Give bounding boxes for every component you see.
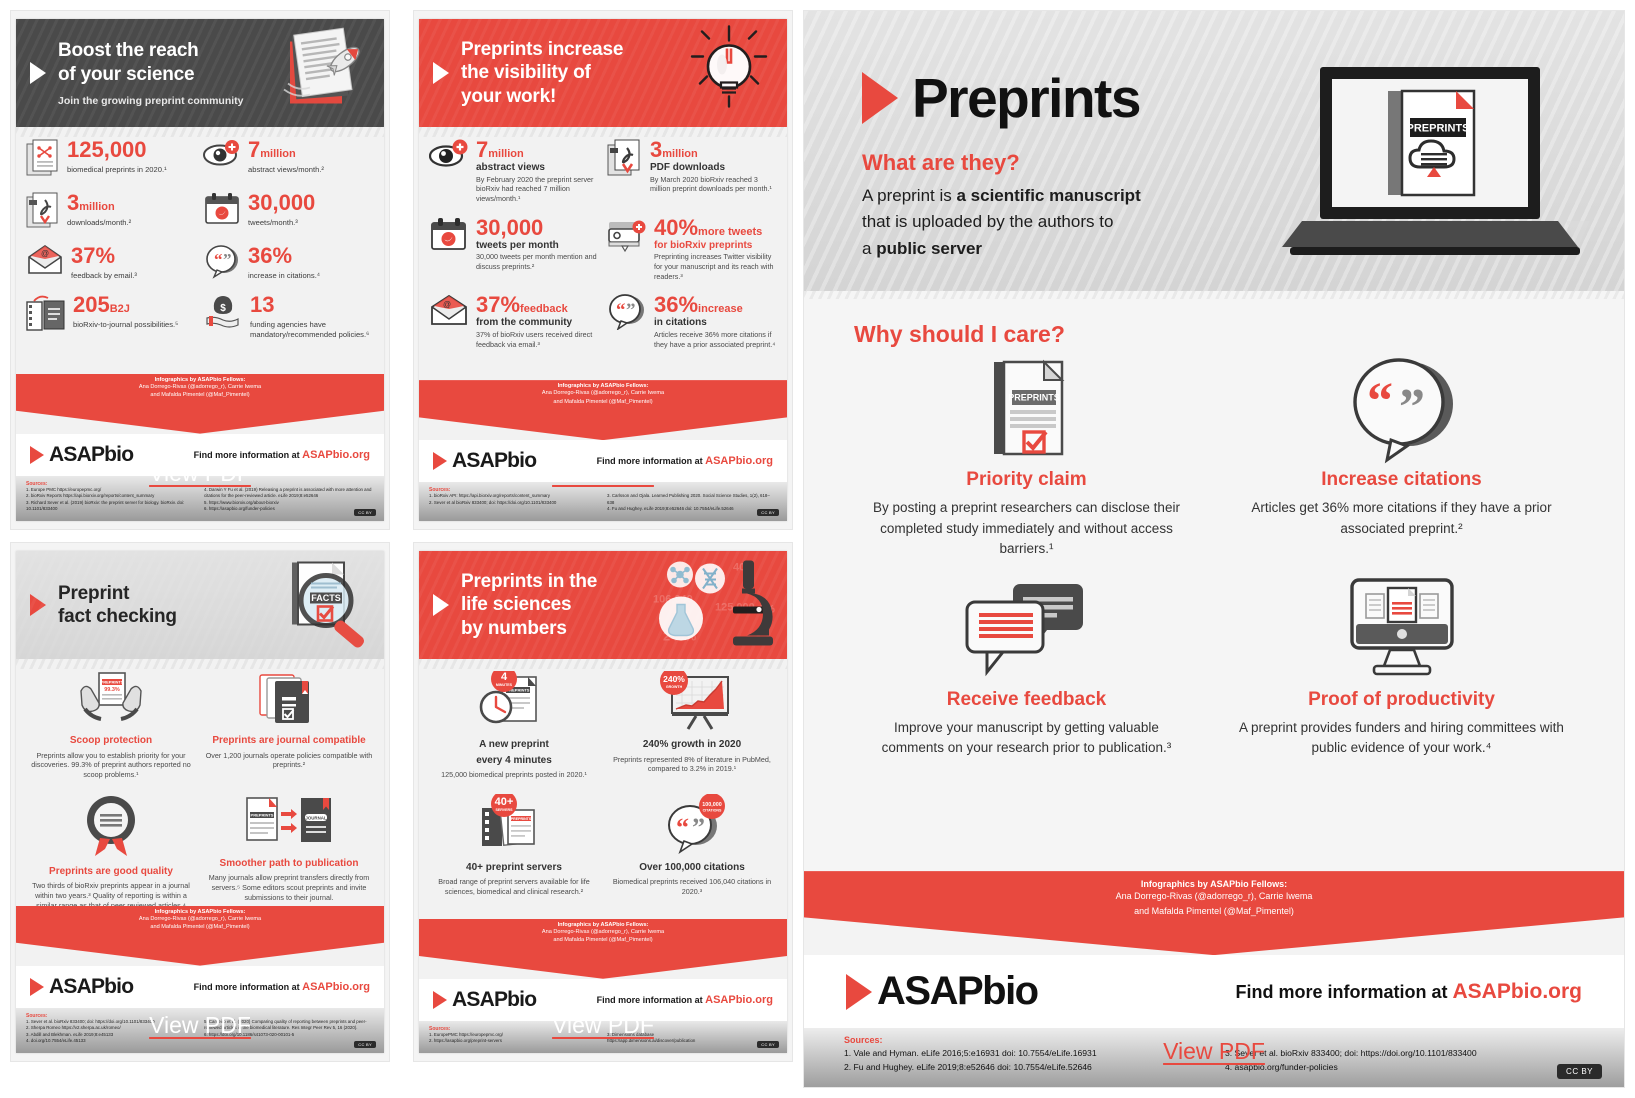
- number-title: 40+ preprint servers: [466, 862, 562, 875]
- source-item: 2. bioRxiv Reports https://api.biorxiv.o…: [26, 493, 196, 500]
- fact-item: Preprints are journal compatible Over 1,…: [204, 671, 374, 780]
- badge-value: 240%: [663, 674, 685, 684]
- source-item: 4. Fu and Hughey. eLife 2019;8:e52646 do…: [607, 506, 777, 513]
- svg-text:@: @: [41, 249, 49, 258]
- card-title-line: Preprints increase: [461, 38, 623, 61]
- credit-line: and Mafalda Pimentel (@Maf_Pimentel): [150, 923, 249, 931]
- stat-item: @ 37%feedback from the community 37% of …: [429, 294, 599, 349]
- credit-line: Ana Dorrego-Rivas (@adorrego_r), Carrie …: [1116, 889, 1313, 903]
- card-title-line: life sciences: [461, 593, 597, 616]
- benefit-title: Priority claim: [966, 469, 1086, 491]
- find-more-text: Find more information at ASAPbio.org: [1235, 980, 1582, 1004]
- source-item: 3. Carlsson and Ojala. Learned Publishin…: [607, 493, 777, 506]
- stat-desc: By February 2020 the preprint server bio…: [476, 175, 599, 204]
- card-title-line: Boost the reach: [58, 39, 244, 62]
- card-wave-credit: Infographics by ASAPbio Fellows: Ana Dor…: [16, 374, 384, 434]
- journals-stack-icon: [254, 671, 324, 732]
- benefit-item-increase-citations: “ ” Increase citations Articles get 36% …: [1229, 354, 1574, 568]
- svg-text:“: “: [616, 300, 626, 321]
- asapbio-logo: ASAPbio: [846, 969, 1038, 1014]
- card-sheet: Preprint fact checking FACTS: [16, 551, 384, 1053]
- stat-item: $ 13 funding agencies have mandatory/rec…: [203, 294, 374, 340]
- stat-value: 3: [67, 190, 79, 215]
- stat-sub: abstract views/month.²: [248, 165, 324, 175]
- fact-title: Smoother path to publication: [220, 858, 359, 871]
- stat-value: 37%: [71, 243, 115, 268]
- monitor-documents-icon: [1340, 576, 1464, 684]
- fact-desc: Many journals allow preprint transfers d…: [204, 873, 374, 902]
- stat-sub: tweets/month.³: [248, 218, 315, 228]
- source-item: https://app.dimensions.ai/discover/publi…: [607, 1038, 777, 1045]
- stat-unit: million: [79, 201, 114, 213]
- asapbio-logo: ASAPbio: [433, 988, 536, 1012]
- view-pdf-link[interactable]: View PDF: [1163, 1038, 1265, 1065]
- stat-unit: B2J: [110, 303, 130, 315]
- stat-unit: million: [662, 148, 697, 160]
- asapbio-logo: ASAPbio: [433, 449, 536, 473]
- stat-desc: Articles receive 36% more citations if t…: [654, 330, 777, 349]
- source-item: 3. Sever et al. bioRxiv 833400; doi: htt…: [1225, 1047, 1584, 1061]
- stat-unit: million: [260, 148, 295, 160]
- stat-sub: increase in citations.⁴: [248, 271, 320, 281]
- credit-line: Ana Dorrego-Rivas (@adorrego_r), Carrie …: [139, 383, 261, 391]
- benefit-title: Receive feedback: [947, 689, 1107, 711]
- stat-desc: Preprinting increases Twitter visibility…: [654, 252, 777, 281]
- chevron-right-icon: [433, 594, 449, 616]
- stat-item: “” 36% increase in citations.⁴: [203, 245, 374, 284]
- source-item: 1. Europe PMC https://europepmc.org/: [26, 487, 196, 494]
- quote-bubble-icon: “ ”: [1343, 356, 1461, 464]
- source-item: 4. Darwin Y Fu et al. (2019) Releasing a…: [204, 487, 374, 500]
- fact-item: PREPRINTS99.3% Scoop protection Preprint…: [26, 671, 196, 780]
- stat-value: 13: [250, 292, 274, 317]
- growth-chart-icon: 240%GROWTH: [650, 671, 734, 736]
- svg-text:PREPRINTS: PREPRINTS: [1008, 393, 1060, 403]
- quote-bubble-icon: “”: [607, 294, 647, 335]
- pdf-download-icon: [607, 139, 643, 184]
- stat-label: in citations: [654, 317, 777, 330]
- stat-value: 205: [73, 292, 110, 317]
- card-subtitle: Join the growing preprint community: [58, 95, 244, 107]
- card-title-line: of your science: [58, 63, 244, 86]
- svg-text:PREPRINTS: PREPRINTS: [511, 817, 532, 821]
- benefit-desc: Improve your manuscript by getting valua…: [864, 718, 1189, 759]
- source-item: 2. https://asapbio.org/preprint-servers: [429, 1038, 599, 1045]
- stat-value: 36%: [654, 292, 698, 317]
- card-sheet: Boost the reach of your science Join the…: [16, 19, 384, 521]
- fact-item: PREPRINTSJOURNAL Smoother path to public…: [204, 794, 374, 906]
- find-more-prefix: Find more information at: [194, 982, 303, 992]
- card-header: Preprint fact checking FACTS: [16, 551, 384, 659]
- benefit-title: Proof of productivity: [1308, 689, 1495, 711]
- svg-text:SERVERS: SERVERS: [495, 808, 513, 812]
- chevron-right-icon: [862, 72, 898, 124]
- benefit-title: Increase citations: [1321, 469, 1482, 491]
- source-item: 4. doi.org/10.7554/eLife.45133: [26, 1038, 196, 1045]
- fact-desc: Preprints allow you to establish priorit…: [26, 751, 196, 780]
- view-pdf-link[interactable]: View PDF: [552, 460, 654, 487]
- clock-preprint-icon: PREPRINTS4MINUTES: [476, 671, 552, 736]
- chevron-right-icon: [433, 991, 447, 1009]
- view-pdf-link[interactable]: View PDF: [552, 1012, 654, 1039]
- thumbnail-grid: Boost the reach of your science Join the…: [10, 10, 793, 1088]
- stat-value: 30,000: [476, 215, 543, 240]
- money-hand-icon: $: [203, 294, 243, 335]
- feature-section-heading: Why should I care?: [854, 321, 1574, 348]
- card-title-line: fact checking: [58, 605, 177, 628]
- credit-line: Ana Dorrego-Rivas (@adorrego_r), Carrie …: [139, 915, 261, 923]
- source-item: 1. Vale and Hyman. eLife 2016;5:e16931 d…: [844, 1047, 1203, 1061]
- eye-plus-icon: [203, 139, 241, 174]
- stat-item: 7million abstract views By February 2020…: [429, 139, 599, 204]
- benefit-desc: Articles get 36% more citations if they …: [1239, 498, 1564, 539]
- card-wave-credit: Infographics by ASAPbio Fellows: Ana Dor…: [419, 919, 787, 979]
- brand-name: ASAPbio: [452, 449, 536, 473]
- find-more-prefix: Find more information at: [194, 450, 303, 460]
- chevron-right-icon: [30, 978, 44, 996]
- find-more-text: Find more information at ASAPbio.org: [194, 449, 370, 461]
- card-sources: Sources: 1. bioRxiv API: https://api.bio…: [419, 482, 787, 521]
- card-body: 125,000 biomedical preprints in 2020.¹ 7…: [16, 127, 384, 374]
- stat-value: 40%: [654, 215, 698, 240]
- infographic-card-preprints-increase-visibility[interactable]: Preprints increase the visibility of you…: [413, 10, 793, 530]
- email-at-icon: @: [26, 245, 64, 280]
- feature-title: Preprints: [912, 66, 1140, 130]
- stat-item: 3million downloads/month.²: [26, 192, 197, 235]
- fact-title: Preprints are journal compatible: [212, 735, 365, 748]
- stat-item: 3million PDF downloads By March 2020 bio…: [607, 139, 777, 204]
- credit-line: and Mafalda Pimentel (@Maf_Pimentel): [1134, 904, 1294, 918]
- stat-sub: bioRxiv-to-journal possibilities.⁵: [73, 320, 178, 330]
- stat-sub: funding agencies have mandatory/recommen…: [250, 320, 374, 340]
- stat-value: 7: [476, 137, 488, 162]
- cc-license-badge: CC BY: [757, 1041, 779, 1048]
- magnifier-facts-icon: FACTS: [278, 557, 374, 654]
- find-more-text: Find more information at ASAPbio.org: [194, 981, 370, 993]
- number-desc: Broad range of preprint servers availabl…: [429, 877, 599, 896]
- card-wave-credit: Infographics by ASAPbio Fellows: Ana Dor…: [16, 906, 384, 966]
- svg-text:PREPRINTS: PREPRINTS: [251, 812, 274, 817]
- benefit-desc: A preprint provides funders and hiring c…: [1239, 718, 1564, 759]
- card-header: Boost the reach of your science Join the…: [16, 19, 384, 127]
- svg-text:99.3%: 99.3%: [104, 687, 120, 693]
- svg-text:PREPRINTS: PREPRINTS: [101, 680, 124, 685]
- card-body: 7million abstract views By February 2020…: [419, 127, 787, 380]
- source-item: 3. Richard Sever et al. (2019) bioRxiv: …: [26, 500, 196, 513]
- stat-value: 7: [248, 137, 260, 162]
- infographic-gallery: Boost the reach of your science Join the…: [0, 0, 1635, 1098]
- credit-line: and Mafalda Pimentel (@Maf_Pimentel): [553, 398, 652, 406]
- feature-body: Why should I care? PREPRINTS: [804, 291, 1624, 871]
- source-item: 1. bioRxiv API: https://api.biorxiv.org/…: [429, 493, 599, 500]
- svg-text:”: ”: [692, 813, 705, 842]
- stat-value: 37%: [476, 292, 520, 317]
- number-title: 240% growth in 2020: [643, 739, 741, 752]
- card-wave-credit: Infographics by ASAPbio Fellows: Ana Dor…: [419, 380, 787, 440]
- quote-bubble-icon: “”100,000CITATIONS: [654, 794, 730, 859]
- svg-text:MINUTES: MINUTES: [496, 683, 513, 687]
- stat-sub: biomedical preprints in 2020.¹: [67, 165, 167, 175]
- quote-bubble-icon: “”: [203, 245, 241, 284]
- email-at-icon: @: [429, 294, 469, 331]
- benefit-item-proof-of-productivity: Proof of productivity A preprint provide…: [1229, 574, 1574, 767]
- credit-line: and Mafalda Pimentel (@Maf_Pimentel): [150, 391, 249, 399]
- source-item: 2. Sever et al bioRxiv 833400; doi: http…: [429, 500, 599, 507]
- chevron-right-icon: [433, 452, 447, 470]
- brand-name: ASAPbio: [877, 969, 1038, 1014]
- find-more-text: Find more information at ASAPbio.org: [597, 994, 773, 1006]
- stat-unit: more tweets: [698, 226, 762, 238]
- asapbio-logo: ASAPbio: [30, 975, 133, 999]
- brand-name: ASAPbio: [49, 975, 133, 999]
- number-desc: Biomedical preprints received 106,040 ci…: [607, 877, 777, 896]
- card-title-line: Preprints in the: [461, 570, 597, 593]
- card-title-line: your work!: [461, 85, 623, 108]
- stat-unit: increase: [698, 303, 743, 315]
- chevron-right-icon: [30, 446, 44, 464]
- credit-line: Ana Dorrego-Rivas (@adorrego_r), Carrie …: [542, 928, 664, 936]
- svg-text:“: “: [676, 813, 689, 842]
- number-title: A new preprint: [479, 739, 549, 752]
- infographic-card-preprint-fact-checking[interactable]: Preprint fact checking FACTS: [10, 542, 390, 1062]
- card-header: Preprints in the life sciences by number…: [419, 551, 787, 659]
- rocket-manuscript-icon: [264, 28, 374, 119]
- server-journal-icon: [26, 294, 66, 337]
- view-pdf-link[interactable]: View PDF: [149, 460, 251, 487]
- stat-desc: 37% of bioRxiv users received direct fee…: [476, 330, 599, 349]
- card-header: Preprints increase the visibility of you…: [419, 19, 787, 127]
- stat-label: tweets per month: [476, 240, 599, 253]
- stat-label: PDF downloads: [650, 162, 777, 175]
- infographic-card-preprints-by-numbers[interactable]: Preprints in the life sciences by number…: [413, 542, 793, 1062]
- svg-text:FACTS: FACTS: [311, 593, 341, 603]
- number-desc: Preprints represented 8% of literature i…: [607, 755, 777, 774]
- card-title-line: the visibility of: [461, 61, 623, 84]
- stat-value: 125,000: [67, 137, 147, 162]
- svg-text:$: $: [220, 303, 226, 314]
- benefit-desc: By posting a preprint researchers can di…: [864, 498, 1189, 560]
- stat-label: from the community: [476, 317, 599, 330]
- source-item: 6. https://asapbio.org/funder-policies: [204, 506, 374, 513]
- stat-item: 30,000 tweets per month 30,000 tweets pe…: [429, 217, 599, 282]
- stat-desc: By March 2020 bioRxiv reached 3 million …: [650, 175, 777, 194]
- svg-text:“: “: [214, 250, 223, 269]
- find-more-prefix: Find more information at: [597, 995, 706, 1005]
- cc-license-badge: CC BY: [354, 1041, 376, 1048]
- feature-wave-credit: Infographics by ASAPbio Fellows: Ana Dor…: [804, 871, 1624, 955]
- svg-text:CITATIONS: CITATIONS: [703, 808, 722, 812]
- feature-header: Preprints What are they? A preprint is a…: [804, 11, 1624, 291]
- stat-item: 40%more tweets for bioRxiv preprints Pre…: [607, 217, 777, 282]
- pdf-download-icon: [26, 192, 60, 235]
- stat-item: 7million abstract views/month.²: [203, 139, 374, 182]
- credit-line: Ana Dorrego-Rivas (@adorrego_r), Carrie …: [542, 389, 664, 397]
- number-item: “”100,000CITATIONS Over 100,000 citation…: [607, 794, 777, 897]
- feedback-bubbles-icon: [959, 576, 1095, 684]
- number-item: PREPRINTS4MINUTES A new preprint every 4…: [429, 671, 599, 780]
- stat-item: 125,000 biomedical preprints in 2020.¹: [26, 139, 197, 182]
- cc-license-badge: CC BY: [1557, 1064, 1602, 1079]
- chevron-right-icon: [433, 62, 449, 84]
- stat-item: @ 37% feedback by email.³: [26, 245, 197, 284]
- number-title: every 4 minutes: [476, 755, 552, 768]
- fact-title: Scoop protection: [70, 735, 152, 748]
- stat-item: 205B2J bioRxiv-to-journal possibilities.…: [26, 294, 197, 340]
- card-title-line: Preprint: [58, 582, 177, 605]
- microscope-science-icon: 240% 106,040 125,000 3.2% 40+ 8%: [647, 553, 777, 658]
- card-body: PREPRINTS4MINUTES A new preprint every 4…: [419, 659, 787, 919]
- card-title-line: by numbers: [461, 617, 597, 640]
- network-document-icon: [26, 139, 60, 182]
- benefit-item-priority-claim: PREPRINTS Priority claim By posting a pr…: [854, 354, 1199, 568]
- cc-license-badge: CC BY: [354, 509, 376, 516]
- badge-value: 100,000: [702, 802, 722, 808]
- brand-name: ASAPbio: [49, 443, 133, 467]
- number-item: PREPRINTS40+SERVERS 40+ preprint servers…: [429, 794, 599, 897]
- lightbulb-icon: [681, 23, 777, 124]
- find-more-org: ASAPbio.org: [302, 449, 370, 461]
- svg-text:“: “: [1367, 373, 1393, 430]
- hands-preprint-icon: PREPRINTS99.3%: [75, 671, 147, 732]
- social-card-plus-icon: [607, 217, 647, 258]
- laptop-preprints-icon: PREPRINTS: [1280, 63, 1590, 268]
- eye-plus-icon: [429, 139, 469, 174]
- feature-brand-bar: ASAPbio Find more information at ASAPbio…: [804, 955, 1624, 1028]
- number-desc: 125,000 biomedical preprints posted in 2…: [441, 770, 587, 780]
- find-more-org: ASAPbio.org: [705, 994, 773, 1006]
- find-more-org: ASAPbio.org: [1453, 980, 1583, 1003]
- number-item: 240%GROWTH 240% growth in 2020 Preprints…: [607, 671, 777, 780]
- asapbio-logo: ASAPbio: [30, 443, 133, 467]
- source-item: 4. asapbio.org/funder-policies: [1225, 1061, 1584, 1075]
- svg-text:PREPRINTS: PREPRINTS: [1407, 123, 1470, 135]
- find-more-org: ASAPbio.org: [302, 981, 370, 993]
- source-item: 2. Fu and Hughey. eLife 2019;8:e52646 do…: [844, 1061, 1203, 1075]
- stat-unit: feedback: [520, 303, 568, 315]
- view-pdf-link[interactable]: View PDF: [149, 1012, 251, 1039]
- stat-unit: million: [488, 148, 523, 160]
- benefit-item-receive-feedback: Receive feedback Improve your manuscript…: [854, 574, 1199, 767]
- chevron-right-icon: [30, 62, 46, 84]
- number-title: Over 100,000 citations: [639, 862, 745, 875]
- svg-text:”: ”: [223, 250, 232, 269]
- preprint-to-journal-icon: PREPRINTSJOURNAL: [245, 794, 333, 855]
- stat-sub: feedback by email.³: [71, 271, 137, 281]
- fact-title: Preprints are good quality: [49, 866, 173, 879]
- stat-value: 36%: [248, 243, 292, 268]
- chevron-right-icon: [846, 974, 872, 1010]
- stat-value: 30,000: [248, 190, 315, 215]
- card-body: PREPRINTS99.3% Scoop protection Preprint…: [16, 659, 384, 906]
- credit-title: Infographics by ASAPbio Fellows:: [1141, 879, 1287, 889]
- card-sheet: Preprints increase the visibility of you…: [419, 19, 787, 521]
- calendar-twitter-icon: [429, 217, 469, 258]
- quality-badge-icon: [78, 794, 144, 863]
- infographic-card-boost-the-reach[interactable]: Boost the reach of your science Join the…: [10, 10, 390, 530]
- fact-desc: Two thirds of bioRxiv preprints appear i…: [26, 881, 196, 905]
- chevron-right-icon: [30, 594, 46, 616]
- featured-infographic-preprints[interactable]: Preprints What are they? A preprint is a…: [803, 10, 1625, 1088]
- cc-license-badge: CC BY: [757, 509, 779, 516]
- stat-label: for bioRxiv preprints: [654, 240, 777, 253]
- stat-desc: 30,000 tweets per month mention and disc…: [476, 252, 599, 271]
- find-more-org: ASAPbio.org: [705, 455, 773, 467]
- stat-item: 30,000 tweets/month.³: [203, 192, 374, 235]
- card-sheet: Preprints in the life sciences by number…: [419, 551, 787, 1053]
- stat-label: abstract views: [476, 162, 599, 175]
- find-more-prefix: Find more information at: [1235, 982, 1452, 1002]
- fact-item: Preprints are good quality Two thirds of…: [26, 794, 196, 906]
- source-item: 5. https://www.biorxiv.org/about-biorxiv: [204, 500, 374, 507]
- preprints-document-check-icon: PREPRINTS: [972, 356, 1082, 464]
- svg-text:GROWTH: GROWTH: [666, 685, 683, 689]
- svg-text:”: ”: [1399, 379, 1425, 436]
- stat-item: “” 36%increase in citations Articles rec…: [607, 294, 777, 349]
- servers-preprints-icon: PREPRINTS40+SERVERS: [474, 794, 554, 859]
- card-brand-bar: ASAPbio Find more information at ASAPbio…: [16, 966, 384, 1008]
- fact-desc: Over 1,200 journals operate policies com…: [204, 751, 374, 770]
- stat-value: 3: [650, 137, 662, 162]
- badge-value: 40+: [495, 796, 514, 808]
- svg-text:JOURNAL: JOURNAL: [305, 815, 327, 820]
- svg-text:@: @: [443, 300, 451, 309]
- brand-name: ASAPbio: [452, 988, 536, 1012]
- stat-sub: downloads/month.²: [67, 218, 131, 228]
- badge-value: 4: [501, 671, 508, 683]
- calendar-twitter-icon: [203, 192, 241, 231]
- svg-text:”: ”: [626, 300, 636, 321]
- credit-line: and Mafalda Pimentel (@Maf_Pimentel): [553, 936, 652, 944]
